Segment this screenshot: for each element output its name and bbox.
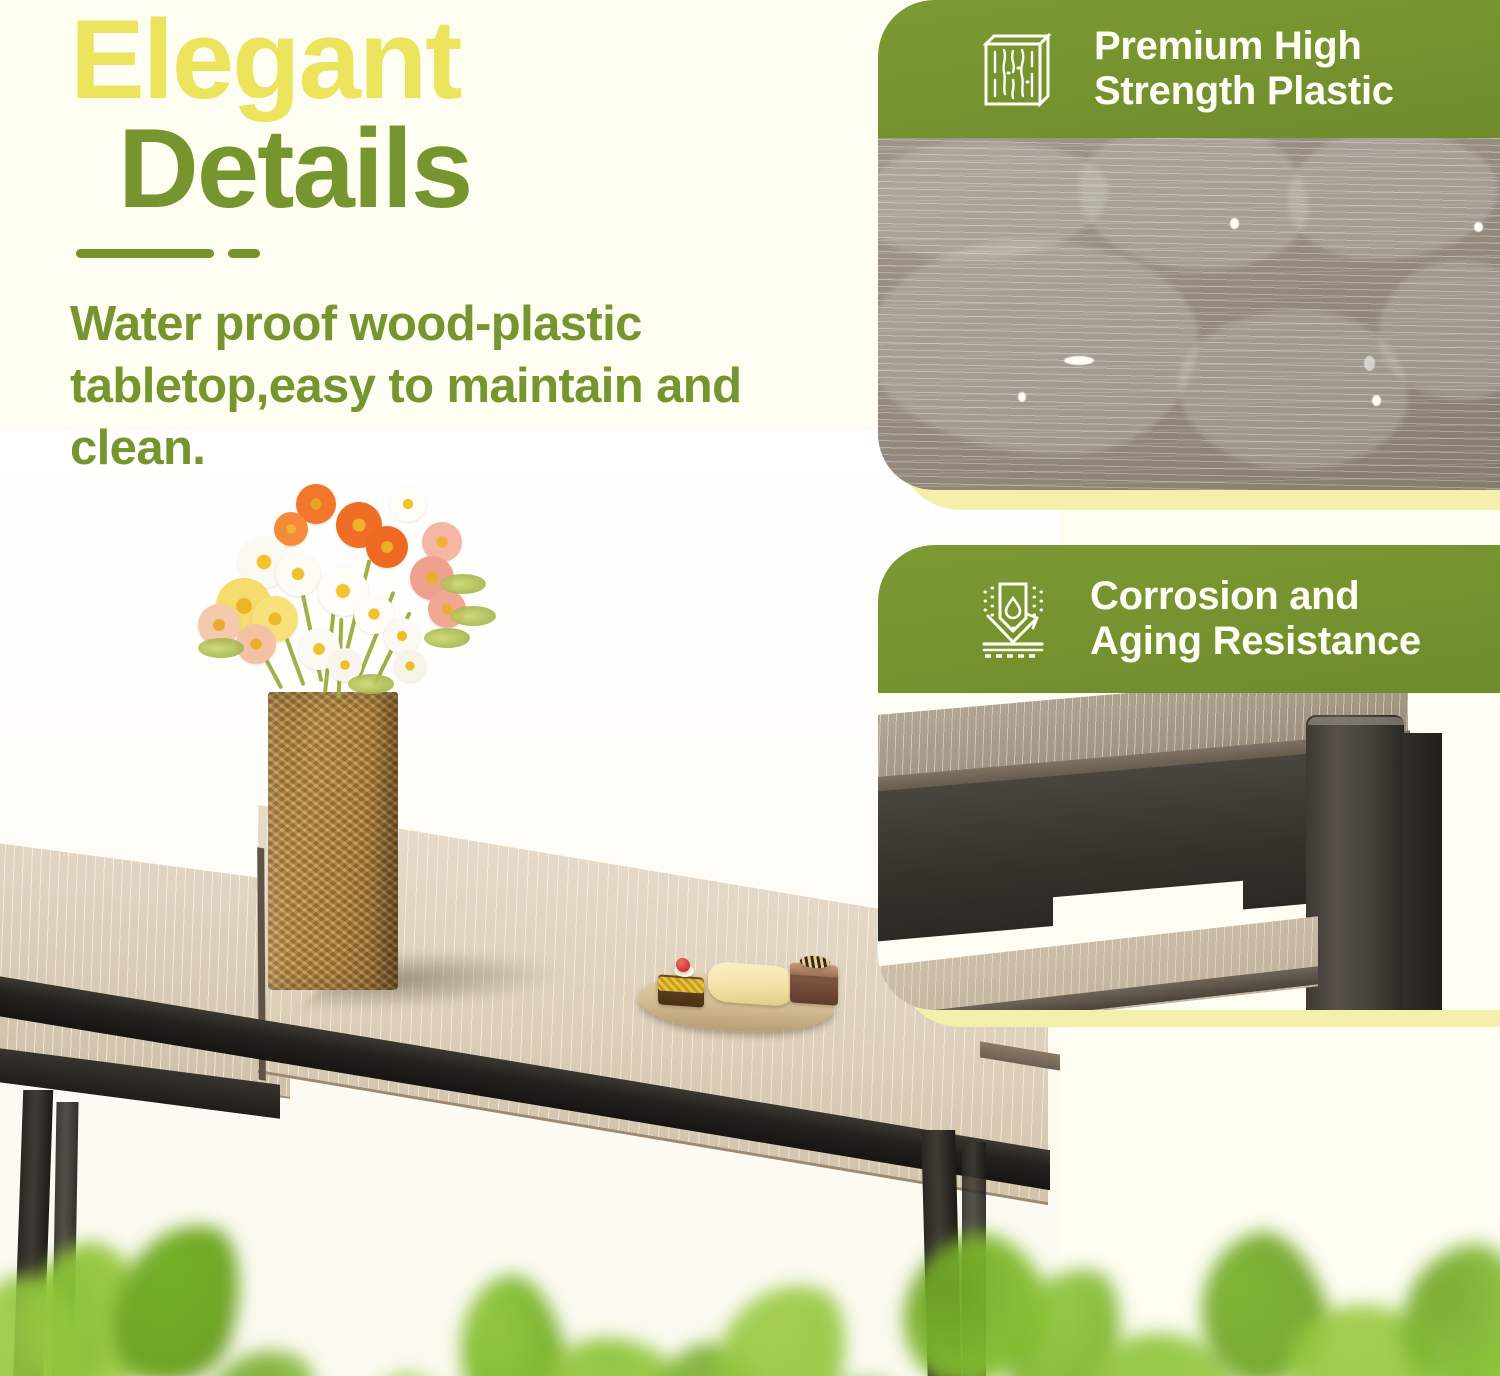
- headline-block: Elegant Details: [70, 6, 870, 258]
- marketing-banner: Elegant Details Water proof wood-plastic…: [0, 0, 1500, 1376]
- flower: [394, 650, 426, 682]
- greenery: [450, 606, 496, 626]
- greenery: [440, 574, 486, 594]
- water-puddle: [878, 240, 1198, 455]
- flower: [366, 526, 408, 568]
- table-leg-back-right: [962, 1142, 986, 1376]
- feature-card-corrosion-and-aging-resistance: Corrosion and Aging Resistance: [878, 545, 1500, 1010]
- headline-line-2: Details: [70, 115, 870, 224]
- card-2-badge-label: Corrosion and Aging Resistance: [1090, 574, 1421, 664]
- headline-line-1: Elegant: [70, 6, 870, 115]
- card-2-photo-table-corner: [878, 693, 1500, 1010]
- card-2-leg-highlight: [1308, 717, 1404, 725]
- woven-vase: [268, 692, 398, 990]
- leaf: [1269, 1276, 1456, 1376]
- water-droplet: [1064, 356, 1094, 365]
- feature-card-premium-high-strength-plastic: Premium High Strength Plastic: [878, 0, 1500, 490]
- flower: [384, 618, 420, 654]
- greenery: [424, 628, 470, 648]
- greenery: [198, 638, 244, 658]
- leaf: [1069, 1302, 1261, 1376]
- cherry: [676, 958, 690, 973]
- water-puddle: [1078, 120, 1308, 270]
- card-2-table-leg-front: [1306, 715, 1404, 1010]
- leaf: [1430, 1318, 1500, 1376]
- subcopy-text: Water proof wood-plastic tabletop,easy t…: [70, 293, 800, 480]
- card-1-photo-wet-surface: [878, 130, 1500, 490]
- water-puddle: [1288, 130, 1498, 260]
- greenery: [348, 674, 394, 694]
- water-droplet: [1474, 222, 1483, 232]
- water-droplet: [1230, 218, 1239, 229]
- flower-bouquet: [178, 478, 508, 708]
- card-2-inner: Corrosion and Aging Resistance: [878, 545, 1500, 1010]
- wood-plank-icon: [974, 26, 1060, 112]
- cream-bread-roll: [708, 961, 794, 1007]
- water-droplet: [1372, 395, 1381, 406]
- water-repellent-shield-icon: [970, 576, 1056, 662]
- card-1-badge-label: Premium High Strength Plastic: [1094, 24, 1394, 114]
- water-droplet: [1018, 392, 1026, 402]
- leaf: [1182, 1220, 1344, 1376]
- headline-divider: [70, 249, 870, 258]
- flower: [276, 552, 320, 596]
- leaf: [1388, 1235, 1500, 1376]
- card-1-inner: Premium High Strength Plastic: [878, 0, 1500, 490]
- divider-short-dash: [228, 249, 260, 258]
- card-2-table-leg-back: [1402, 733, 1442, 1010]
- flower: [390, 486, 426, 522]
- card-2-badge: Corrosion and Aging Resistance: [878, 545, 1500, 693]
- water-droplet: [1364, 356, 1375, 371]
- card-1-badge: Premium High Strength Plastic: [878, 0, 1500, 138]
- water-puddle: [1178, 310, 1408, 470]
- divider-long-dash: [76, 249, 214, 258]
